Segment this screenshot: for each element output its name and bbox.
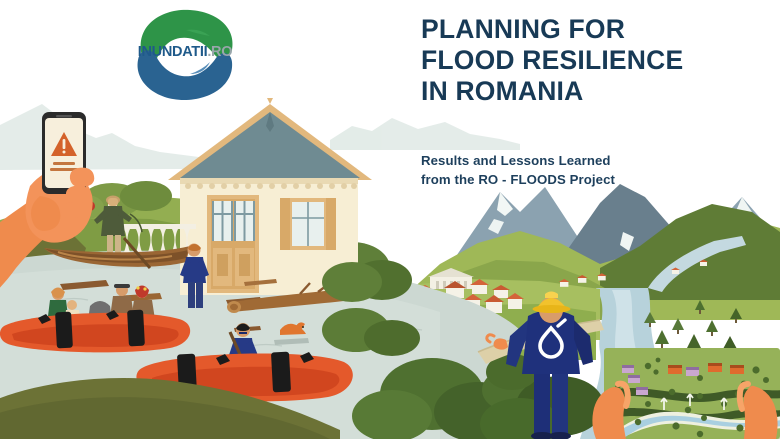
subtitle-block: Results and Lessons Learned from the RO … [421, 151, 751, 189]
layered-terrain-map [592, 348, 780, 439]
logo-wordmark: INUNDATII.RO [112, 44, 258, 60]
page-title: PLANNING FOR FLOOD RESILIENCE IN ROMANIA [421, 14, 751, 107]
page-subtitle: Results and Lessons Learned from the RO … [421, 151, 751, 189]
inundatii-logo[interactable]: INUNDATII.RO [112, 0, 258, 108]
poster-root: INUNDATII.RO PLANNING FOR FLOOD RESILIEN… [0, 0, 780, 439]
logo-name: INUNDATII [138, 44, 208, 60]
title-block: PLANNING FOR FLOOD RESILIENCE IN ROMANIA [421, 14, 751, 107]
logo-tld: .RO [207, 44, 232, 60]
